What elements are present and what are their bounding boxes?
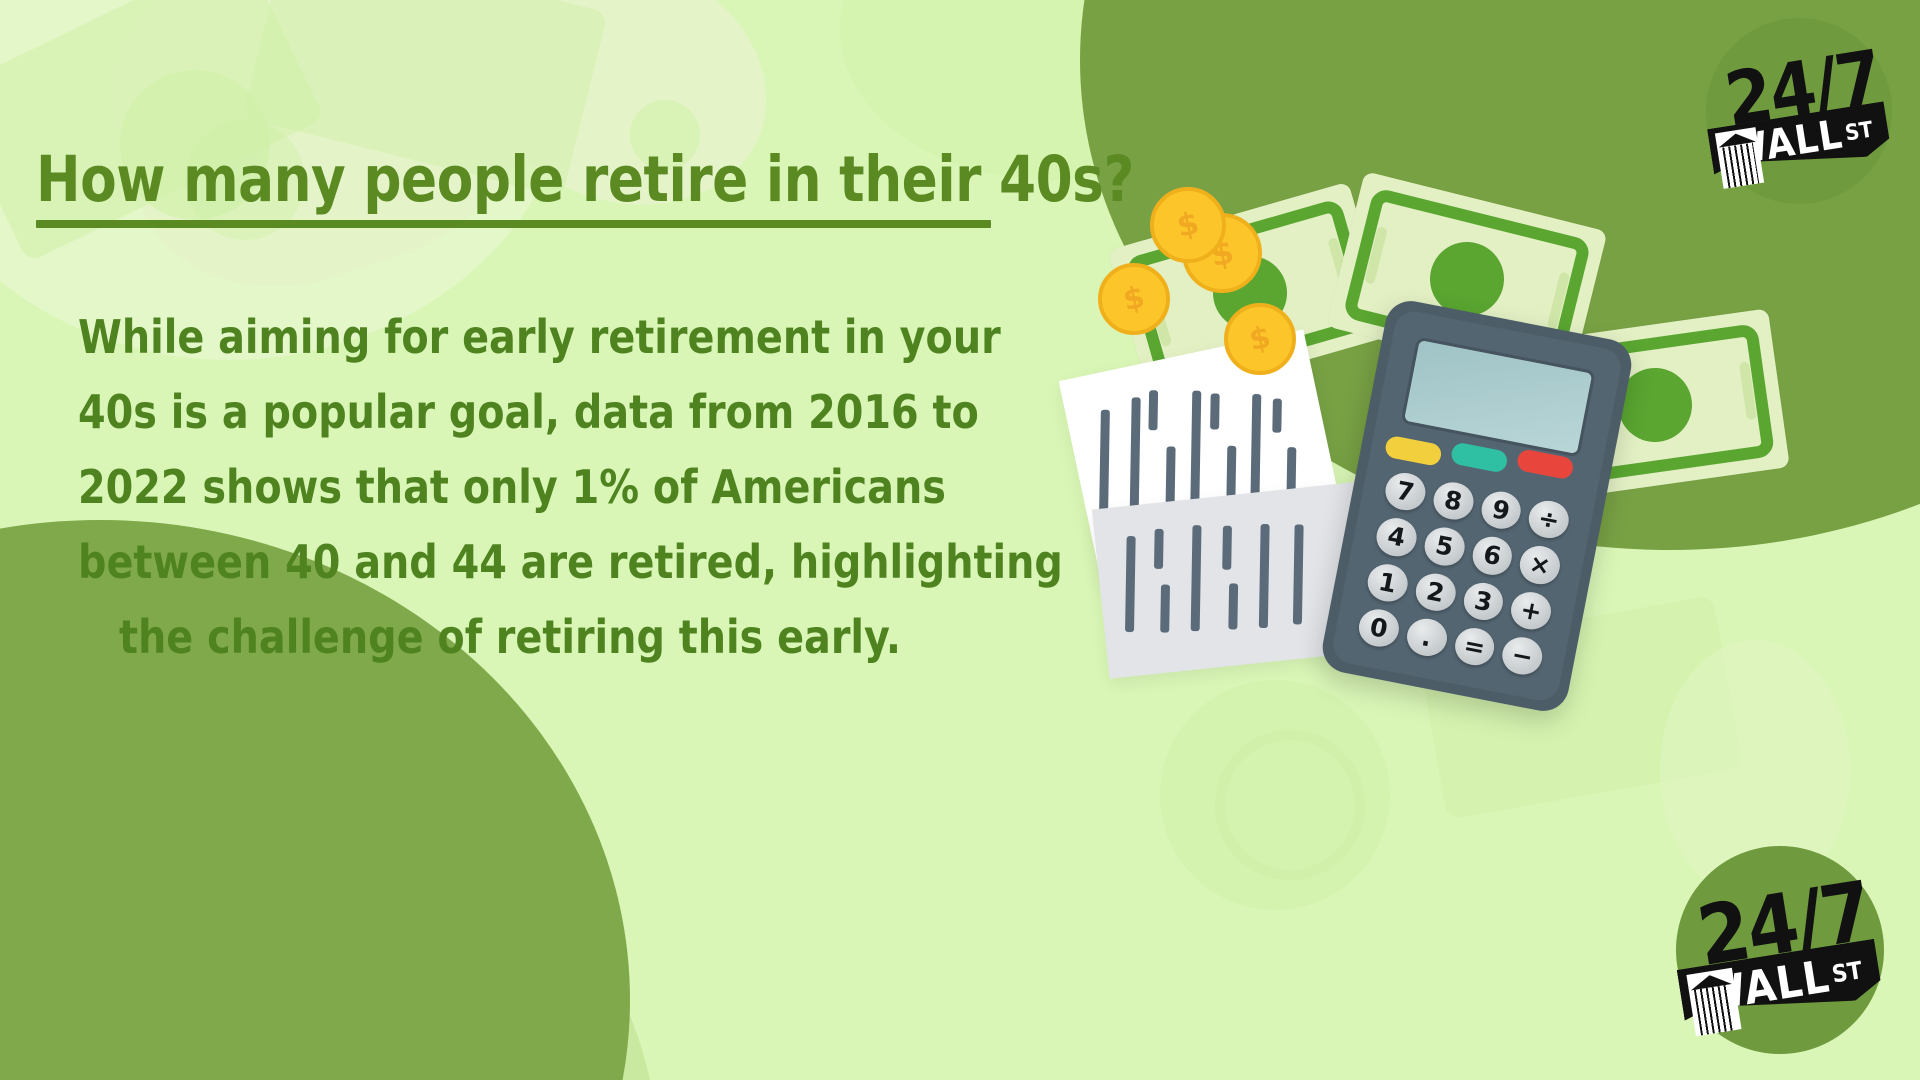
calculator[interactable]: 7 8 9 ÷ 4 5 6 × 1 2 3 + 0 . = −	[1318, 297, 1636, 716]
calc-key-2[interactable]: 2	[1412, 570, 1458, 614]
page-title: How many people retire in their 40s?	[36, 148, 985, 212]
receipt-line	[1210, 393, 1220, 429]
headline-block: How many people retire in their 40s?	[36, 148, 1046, 228]
watermark-ring-a	[1215, 730, 1365, 880]
body-line: 2022 shows that only 1% of Americans	[78, 450, 942, 525]
receipt-line	[1259, 524, 1270, 628]
receipt-line	[1154, 529, 1164, 569]
calculator-display	[1400, 336, 1595, 457]
logo-st-text: ST	[1830, 956, 1864, 988]
receipt-line	[1191, 525, 1202, 631]
calculator-bezel: 7 8 9 ÷ 4 5 6 × 1 2 3 + 0 . = −	[1330, 308, 1624, 703]
receipt-line	[1160, 584, 1170, 632]
receipt-line	[1148, 390, 1158, 430]
receipt-line	[1228, 583, 1238, 629]
headline-underline	[36, 220, 991, 228]
calc-key-1[interactable]: 1	[1365, 560, 1411, 604]
body-line: 40s is a popular goal, data from 2016 to	[78, 375, 942, 450]
logo-building-icon	[1686, 968, 1741, 1037]
infographic-canvas: How many people retire in their 40s? Whi…	[0, 0, 1920, 1080]
calc-key-equals[interactable]: =	[1451, 624, 1497, 668]
logo-building-icon	[1715, 127, 1764, 189]
teal-function-key[interactable]	[1450, 441, 1509, 473]
calc-key-0[interactable]: 0	[1356, 606, 1402, 650]
calc-key-3[interactable]: 3	[1460, 579, 1506, 623]
coin	[1098, 263, 1170, 335]
calc-key-divide[interactable]: ÷	[1526, 498, 1572, 542]
brand-logo-top-right[interactable]: 24/7 WALLST	[1706, 18, 1892, 204]
receipt-line	[1222, 526, 1232, 570]
body-line: While aiming for early retirement in you…	[78, 300, 942, 375]
coin	[1224, 303, 1296, 375]
calc-key-plus[interactable]: +	[1508, 588, 1554, 632]
money-calculator-illustration: 7 8 9 ÷ 4 5 6 × 1 2 3 + 0 . = −	[1120, 195, 1880, 715]
logo-st-text: ST	[1843, 117, 1874, 146]
calc-key-8[interactable]: 8	[1430, 479, 1476, 523]
yellow-function-key[interactable]	[1384, 435, 1443, 467]
coin	[1150, 187, 1226, 263]
calc-key-9[interactable]: 9	[1478, 488, 1524, 532]
calc-key-multiply[interactable]: ×	[1517, 543, 1563, 587]
calc-key-5[interactable]: 5	[1421, 524, 1467, 568]
body-line: between 40 and 44 are retired, highlight…	[78, 525, 942, 600]
receipt-line	[1272, 399, 1282, 433]
receipt-line	[1125, 536, 1136, 632]
calc-key-7[interactable]: 7	[1382, 470, 1428, 514]
receipt-line	[1293, 524, 1304, 624]
brand-logo-bottom-right[interactable]: 24/7 WALLST	[1676, 846, 1884, 1054]
calc-key-4[interactable]: 4	[1373, 515, 1419, 559]
calculator-keypad: 7 8 9 ÷ 4 5 6 × 1 2 3 + 0 . = −	[1356, 470, 1572, 678]
body-paragraph: While aiming for early retirement in you…	[60, 300, 960, 675]
calc-key-6[interactable]: 6	[1469, 534, 1515, 578]
calc-key-minus[interactable]: −	[1499, 634, 1545, 678]
calc-key-decimal[interactable]: .	[1404, 615, 1450, 659]
body-line: the challenge of retiring this early.	[78, 600, 942, 675]
